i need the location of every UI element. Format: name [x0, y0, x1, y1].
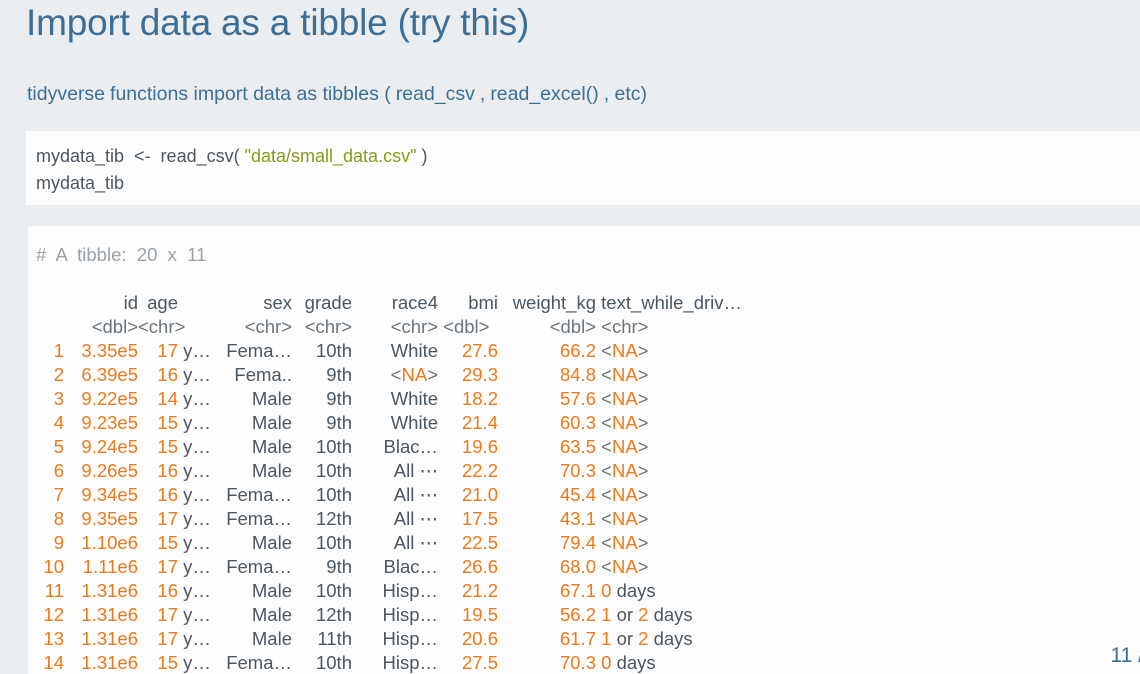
cell-age: 16	[138, 363, 178, 387]
cell-rownum: 6	[36, 459, 64, 483]
cell-text-while-driving: 1 or 2 days	[596, 603, 776, 627]
column-type-0: <dbl>	[64, 315, 138, 339]
cell-id: 9.22e5	[64, 387, 138, 411]
table-row: 121.31e617 y…Male12thHisp…19.556.2 1 or …	[36, 603, 1140, 627]
cell-age-unit: y…	[178, 483, 224, 507]
cell-text-while-driving: <NA>	[596, 339, 776, 363]
cell-age-unit: y…	[178, 603, 224, 627]
cell-id: 1.31e6	[64, 651, 138, 674]
cell-sex: Fema…	[224, 339, 292, 363]
column-type-4: <chr>	[352, 315, 438, 339]
cell-rownum: 13	[36, 627, 64, 651]
table-row: 59.24e515 y…Male10thBlac…19.663.5 <NA>	[36, 435, 1140, 459]
cell-grade: 10th	[292, 459, 352, 483]
cell-id: 9.24e5	[64, 435, 138, 459]
cell-weight-kg: 84.8	[498, 363, 596, 387]
subtitle-etc: , etc)	[604, 83, 647, 105]
cell-bmi: 22.5	[438, 531, 498, 555]
cell-sex: Male	[224, 627, 292, 651]
na-open-bracket: <	[601, 436, 612, 457]
cell-text-while-driving: 0 days	[596, 651, 776, 674]
cell-race4: All ⋯	[352, 459, 438, 483]
cell-weight-kg: 43.1	[498, 507, 596, 531]
cell-age-unit: y…	[178, 627, 224, 651]
code-line-1: mydata_tib <- read_csv( "data/small_data…	[36, 143, 1140, 170]
cell-id: 9.34e5	[64, 483, 138, 507]
race-value: White	[391, 388, 438, 409]
cell-bmi: 19.6	[438, 435, 498, 459]
race-value: Blac…	[384, 436, 439, 457]
column-type-age: <chr>	[138, 315, 178, 339]
cell-age-unit: y…	[178, 435, 224, 459]
na-open-bracket: <	[601, 460, 612, 481]
race-value: Hisp…	[382, 652, 438, 673]
cell-id: 6.39e5	[64, 363, 138, 387]
cell-weight-kg: 61.7	[498, 627, 596, 651]
cell-bmi: 26.6	[438, 555, 498, 579]
column-header-race4: race4	[352, 291, 438, 315]
cell-age-unit: y…	[178, 339, 224, 363]
cell-bmi: 27.6	[438, 339, 498, 363]
cell-id: 1.31e6	[64, 579, 138, 603]
na-close-bracket: >	[638, 412, 649, 433]
cell-grade: 9th	[292, 363, 352, 387]
cell-age-unit: y…	[178, 363, 224, 387]
tibble-dimensions-comment: # A tibble: 20 x 11	[36, 243, 1140, 267]
cell-sex: Fema…	[224, 555, 292, 579]
cell-race4: Hisp…	[352, 627, 438, 651]
cell-weight-kg: 67.1	[498, 579, 596, 603]
na-close-bracket: >	[638, 484, 649, 505]
na-close-bracket: >	[638, 508, 649, 529]
cell-grade: 12th	[292, 603, 352, 627]
na-open-bracket: <	[601, 364, 612, 385]
na-label: NA	[612, 364, 638, 385]
column-header-bmi: bmi	[438, 291, 498, 315]
cell-rownum: 5	[36, 435, 64, 459]
column-header-age: age	[138, 291, 178, 315]
cell-race4: Blac…	[352, 435, 438, 459]
na-label: NA	[612, 556, 638, 577]
cell-age: 15	[138, 435, 178, 459]
cell-grade: 9th	[292, 555, 352, 579]
text-days-count: 1	[601, 628, 611, 649]
cell-grade: 10th	[292, 435, 352, 459]
code-string-literal: "data/small_data.csv"	[245, 146, 417, 166]
cell-race4: All ⋯	[352, 531, 438, 555]
column-type-3: <chr>	[292, 315, 352, 339]
na-open-bracket: <	[601, 532, 612, 553]
race-value: Hisp…	[382, 604, 438, 625]
column-header-grade: grade	[292, 291, 352, 315]
cell-rownum: 11	[36, 579, 64, 603]
cell-id: 9.26e5	[64, 459, 138, 483]
na-label: NA	[612, 508, 638, 529]
na-open-bracket: <	[601, 388, 612, 409]
column-type-6: <dbl>	[498, 315, 596, 339]
cell-rownum: 2	[36, 363, 64, 387]
race-value: All	[394, 460, 415, 481]
cell-age: 17	[138, 627, 178, 651]
cell-grade: 10th	[292, 339, 352, 363]
cell-rownum: 9	[36, 531, 64, 555]
cell-id: 3.35e5	[64, 339, 138, 363]
page-number: 11 /	[1111, 644, 1140, 668]
cell-sex: Male	[224, 411, 292, 435]
table-row: 101.11e617 y…Fema…9thBlac…26.668.0 <NA>	[36, 555, 1140, 579]
cell-bmi: 27.5	[438, 651, 498, 674]
cell-grade: 10th	[292, 483, 352, 507]
cell-weight-kg: 57.6	[498, 387, 596, 411]
cell-id: 1.11e6	[64, 555, 138, 579]
race-ellipsis: ⋯	[414, 484, 438, 505]
cell-age: 16	[138, 483, 178, 507]
cell-sex: Male	[224, 531, 292, 555]
cell-age-unit: y…	[178, 459, 224, 483]
cell-grade: 12th	[292, 507, 352, 531]
cell-age-unit: y…	[178, 507, 224, 531]
cell-bmi: 21.0	[438, 483, 498, 507]
cell-rownum: 10	[36, 555, 64, 579]
cell-age: 17	[138, 603, 178, 627]
cell-text-while-driving: <NA>	[596, 459, 776, 483]
cell-bmi: 29.3	[438, 363, 498, 387]
cell-id: 9.35e5	[64, 507, 138, 531]
text-days-word: days	[648, 628, 692, 649]
cell-age: 17	[138, 507, 178, 531]
table-row: 26.39e516 y…Fema..9th<NA>29.384.8 <NA>	[36, 363, 1140, 387]
cell-weight-kg: 63.5	[498, 435, 596, 459]
cell-id: 9.23e5	[64, 411, 138, 435]
column-type-2: <chr>	[224, 315, 292, 339]
table-row: 141.31e615 y…Fema…10thHisp…27.570.3 0 da…	[36, 651, 1140, 674]
text-days-word: days	[648, 604, 692, 625]
na-label: NA	[612, 460, 638, 481]
na-label: NA	[612, 388, 638, 409]
cell-bmi: 20.6	[438, 627, 498, 651]
table-row: 131.31e617 y…Male11thHisp…20.661.7 1 or …	[36, 627, 1140, 651]
na-open-bracket: <	[601, 484, 612, 505]
cell-age-unit: y…	[178, 651, 224, 674]
code-line-2: mydata_tib	[36, 170, 1140, 197]
na-close-bracket: >	[638, 532, 649, 553]
cell-sex: Fema…	[224, 651, 292, 674]
cell-age-unit: y…	[178, 411, 224, 435]
cell-bmi: 19.5	[438, 603, 498, 627]
cell-race4: White	[352, 387, 438, 411]
cell-sex: Fema..	[224, 363, 292, 387]
cell-sex: Fema…	[224, 483, 292, 507]
text-days-word: days	[611, 652, 655, 673]
cell-race4: All ⋯	[352, 507, 438, 531]
cell-bmi: 17.5	[438, 507, 498, 531]
na-open-bracket: <	[601, 508, 612, 529]
console-output: # A tibble: 20 x 11 idagesexgraderace4bm…	[28, 226, 1140, 674]
table-row: 69.26e516 y…Male10thAll ⋯22.270.3 <NA>	[36, 459, 1140, 483]
cell-age: 16	[138, 579, 178, 603]
table-body: 13.35e517 y…Fema…10thWhite27.666.2 <NA>2…	[36, 339, 1140, 674]
cell-rownum: 3	[36, 387, 64, 411]
table-row: 13.35e517 y…Fema…10thWhite27.666.2 <NA>	[36, 339, 1140, 363]
cell-age: 15	[138, 531, 178, 555]
cell-weight-kg: 45.4	[498, 483, 596, 507]
cell-text-while-driving: <NA>	[596, 363, 776, 387]
cell-race4: Hisp…	[352, 651, 438, 674]
race-value: Blac…	[384, 556, 439, 577]
cell-grade: 10th	[292, 651, 352, 674]
na-open-bracket: <	[391, 364, 402, 385]
code-block: mydata_tib <- read_csv( "data/small_data…	[26, 131, 1140, 205]
cell-age-unit: y…	[178, 579, 224, 603]
code-close-paren: )	[416, 146, 427, 166]
cell-race4: White	[352, 339, 438, 363]
text-days-word: days	[611, 580, 655, 601]
column-type-bmi: <dbl>	[438, 315, 498, 339]
page-title: Import data as a tibble (try this)	[26, 2, 529, 44]
cell-sex: Male	[224, 603, 292, 627]
cell-id: 1.31e6	[64, 603, 138, 627]
cell-sex: Fema…	[224, 507, 292, 531]
cell-rownum: 8	[36, 507, 64, 531]
cell-weight-kg: 79.4	[498, 531, 596, 555]
cell-bmi: 21.2	[438, 579, 498, 603]
cell-rownum: 14	[36, 651, 64, 674]
cell-weight-kg: 70.3	[498, 651, 596, 674]
cell-text-while-driving: <NA>	[596, 387, 776, 411]
text-days-count: 0	[601, 580, 611, 601]
table-types-row: <dbl><chr><chr><chr><chr> <dbl><dbl> <ch…	[36, 315, 1140, 339]
subtitle-text: functions import data as tibbles (	[110, 83, 391, 105]
cell-grade: 10th	[292, 579, 352, 603]
cell-race4: Blac…	[352, 555, 438, 579]
na-close-bracket: >	[638, 436, 649, 457]
cell-age: 16	[138, 459, 178, 483]
race-value: Hisp…	[382, 580, 438, 601]
na-open-bracket: <	[601, 340, 612, 361]
cell-weight-kg: 56.2	[498, 603, 596, 627]
cell-grade: 11th	[292, 627, 352, 651]
subtitle-read-csv: read_csv	[396, 83, 475, 105]
cell-race4: Hisp…	[352, 603, 438, 627]
cell-bmi: 21.4	[438, 411, 498, 435]
race-value: All	[394, 484, 415, 505]
slide-subtitle: tidyversefunctions import data as tibble…	[27, 83, 647, 106]
table-row: 91.10e615 y…Male10thAll ⋯22.579.4 <NA>	[36, 531, 1140, 555]
cell-race4: Hisp…	[352, 579, 438, 603]
cell-id: 1.10e6	[64, 531, 138, 555]
text-or-word: or	[611, 628, 638, 649]
cell-grade: 9th	[292, 387, 352, 411]
cell-age: 17	[138, 555, 178, 579]
na-close-bracket: >	[638, 340, 649, 361]
na-label: NA	[401, 364, 427, 385]
cell-text-while-driving: 1 or 2 days	[596, 627, 776, 651]
cell-grade: 9th	[292, 411, 352, 435]
text-days-count-2: 2	[638, 604, 648, 625]
cell-race4: <NA>	[352, 363, 438, 387]
cell-rownum: 1	[36, 339, 64, 363]
race-ellipsis: ⋯	[414, 532, 438, 553]
na-label: NA	[612, 340, 638, 361]
na-close-bracket: >	[638, 388, 649, 409]
race-ellipsis: ⋯	[414, 460, 438, 481]
cell-grade: 10th	[292, 531, 352, 555]
cell-rownum: 4	[36, 411, 64, 435]
na-label: NA	[612, 436, 638, 457]
race-value: White	[391, 412, 438, 433]
cell-race4: White	[352, 411, 438, 435]
cell-weight-kg: 68.0	[498, 555, 596, 579]
cell-text-while-driving: <NA>	[596, 507, 776, 531]
cell-text-while-driving: <NA>	[596, 483, 776, 507]
cell-id: 1.31e6	[64, 627, 138, 651]
cell-rownum: 7	[36, 483, 64, 507]
na-close-bracket: >	[638, 460, 649, 481]
cell-text-while-driving: 0 days	[596, 579, 776, 603]
code-assignment: mydata_tib <- read_csv(	[36, 146, 245, 166]
subtitle-read-excel: read_excel()	[490, 83, 598, 105]
cell-sex: Male	[224, 387, 292, 411]
cell-weight-kg: 70.3	[498, 459, 596, 483]
text-days-count: 0	[601, 652, 611, 673]
na-close-bracket: >	[638, 556, 649, 577]
cell-text-while-driving: <NA>	[596, 411, 776, 435]
na-open-bracket: <	[601, 412, 612, 433]
text-days-count-2: 2	[638, 628, 648, 649]
column-header-sex: sex	[224, 291, 292, 315]
table-row: 79.34e516 y…Fema…10thAll ⋯21.045.4 <NA>	[36, 483, 1140, 507]
cell-rownum: 12	[36, 603, 64, 627]
race-ellipsis: ⋯	[414, 508, 438, 529]
cell-sex: Male	[224, 459, 292, 483]
subtitle-tidyverse: tidyverse	[27, 83, 105, 105]
cell-text-while-driving: <NA>	[596, 555, 776, 579]
subtitle-comma: ,	[480, 83, 485, 105]
race-value: White	[391, 340, 438, 361]
cell-age: 14	[138, 387, 178, 411]
cell-age: 15	[138, 651, 178, 674]
cell-age-unit: y…	[178, 555, 224, 579]
cell-age-unit: y…	[178, 531, 224, 555]
cell-age: 17	[138, 339, 178, 363]
table-header-row: idagesexgraderace4bmiweight_kg text_whil…	[36, 291, 1140, 315]
na-label: NA	[612, 532, 638, 553]
empty-spacer	[36, 267, 1140, 291]
na-close-bracket: >	[427, 364, 438, 385]
table-row: 39.22e514 y…Male9thWhite18.257.6 <NA>	[36, 387, 1140, 411]
cell-sex: Male	[224, 435, 292, 459]
na-label: NA	[612, 484, 638, 505]
race-value: All	[394, 532, 415, 553]
cell-bmi: 22.2	[438, 459, 498, 483]
cell-weight-kg: 60.3	[498, 411, 596, 435]
table-row: 89.35e517 y…Fema…12thAll ⋯17.543.1 <NA>	[36, 507, 1140, 531]
na-open-bracket: <	[601, 556, 612, 577]
cell-bmi: 18.2	[438, 387, 498, 411]
cell-sex: Male	[224, 579, 292, 603]
cell-age-unit: y…	[178, 387, 224, 411]
table-row: 111.31e616 y…Male10thHisp…21.267.1 0 day…	[36, 579, 1140, 603]
table-row: 49.23e515 y…Male9thWhite21.460.3 <NA>	[36, 411, 1140, 435]
cell-weight-kg: 66.2	[498, 339, 596, 363]
column-header-text-while-driv: text_while_driv…	[596, 291, 776, 315]
cell-race4: All ⋯	[352, 483, 438, 507]
text-or-word: or	[611, 604, 638, 625]
text-days-count: 1	[601, 604, 611, 625]
na-label: NA	[612, 412, 638, 433]
cell-text-while-driving: <NA>	[596, 435, 776, 459]
race-value: Hisp…	[382, 628, 438, 649]
column-type-text: <chr>	[596, 315, 776, 339]
na-close-bracket: >	[638, 364, 649, 385]
column-header-id: id	[64, 291, 138, 315]
cell-age: 15	[138, 411, 178, 435]
race-value: All	[394, 508, 415, 529]
column-header-weight_kg: weight_kg	[498, 291, 596, 315]
cell-text-while-driving: <NA>	[596, 531, 776, 555]
